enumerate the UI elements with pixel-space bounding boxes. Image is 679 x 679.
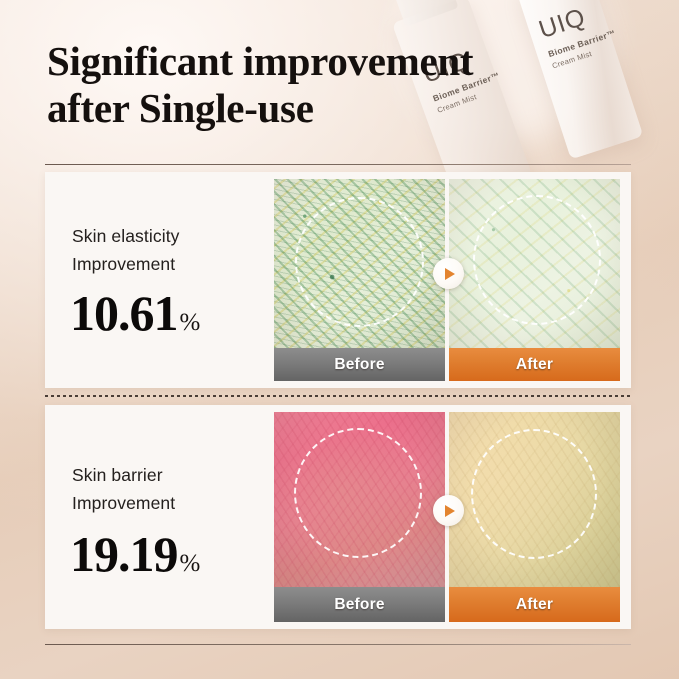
before-after-pair: Before After — [274, 179, 624, 381]
after-image — [449, 179, 620, 348]
play-arrow-icon — [433, 495, 464, 526]
card-metric-panel: Skin barrier Improvement 19.19 % — [45, 405, 274, 629]
page-title: Significant improvement after Single-use — [47, 38, 547, 131]
after-image — [449, 412, 620, 587]
before-after-pair: Before After — [274, 412, 624, 622]
divider-dotted — [45, 395, 631, 397]
before-panel: Before — [274, 179, 445, 381]
metric-label-line-1: Skin elasticity — [72, 222, 272, 250]
metric-value: 10.61 % — [70, 288, 200, 338]
metric-number: 10.61 — [70, 288, 178, 338]
divider-bottom — [45, 644, 631, 645]
page-title-line-2: after Single-use — [47, 85, 547, 132]
metric-number: 19.19 — [70, 529, 178, 579]
after-panel: After — [449, 412, 620, 622]
triangle-glyph — [445, 268, 455, 280]
play-arrow-icon — [433, 258, 464, 289]
triangle-glyph — [445, 505, 455, 517]
before-image — [274, 412, 445, 587]
result-card: Skin elasticity Improvement 10.61 % Befo… — [45, 172, 631, 388]
metric-label-line-2: Improvement — [72, 489, 272, 517]
divider-top — [45, 164, 631, 165]
focus-circle-overlay — [473, 195, 601, 325]
metric-label: Skin elasticity Improvement — [72, 222, 272, 279]
before-label: Before — [274, 348, 445, 381]
result-card: Skin barrier Improvement 19.19 % Before — [45, 405, 631, 629]
metric-label-line-2: Improvement — [72, 250, 272, 278]
focus-circle-overlay — [294, 428, 422, 558]
before-image — [274, 179, 445, 348]
before-label: Before — [274, 587, 445, 622]
metric-label: Skin barrier Improvement — [72, 461, 272, 518]
focus-circle-overlay — [295, 197, 424, 327]
bottle-product-line-2: Cream Mist — [551, 49, 593, 70]
bottle-cap — [390, 0, 459, 27]
metric-percent-sign: % — [180, 551, 201, 576]
card-metric-panel: Skin elasticity Improvement 10.61 % — [45, 172, 274, 388]
metric-value: 19.19 % — [70, 529, 200, 579]
after-label: After — [449, 587, 620, 622]
metric-label-line-1: Skin barrier — [72, 461, 272, 489]
bottle-product-line-1: Biome Barrier™ — [547, 28, 617, 59]
before-panel: Before — [274, 412, 445, 622]
after-panel: After — [449, 179, 620, 381]
after-label: After — [449, 348, 620, 381]
focus-circle-overlay — [471, 429, 597, 559]
page-title-line-1: Significant improvement — [47, 38, 473, 84]
metric-percent-sign: % — [180, 310, 201, 335]
promo-infographic: UIQ Biome Barrier™ Cream Mist UIQ Biome … — [0, 0, 679, 679]
